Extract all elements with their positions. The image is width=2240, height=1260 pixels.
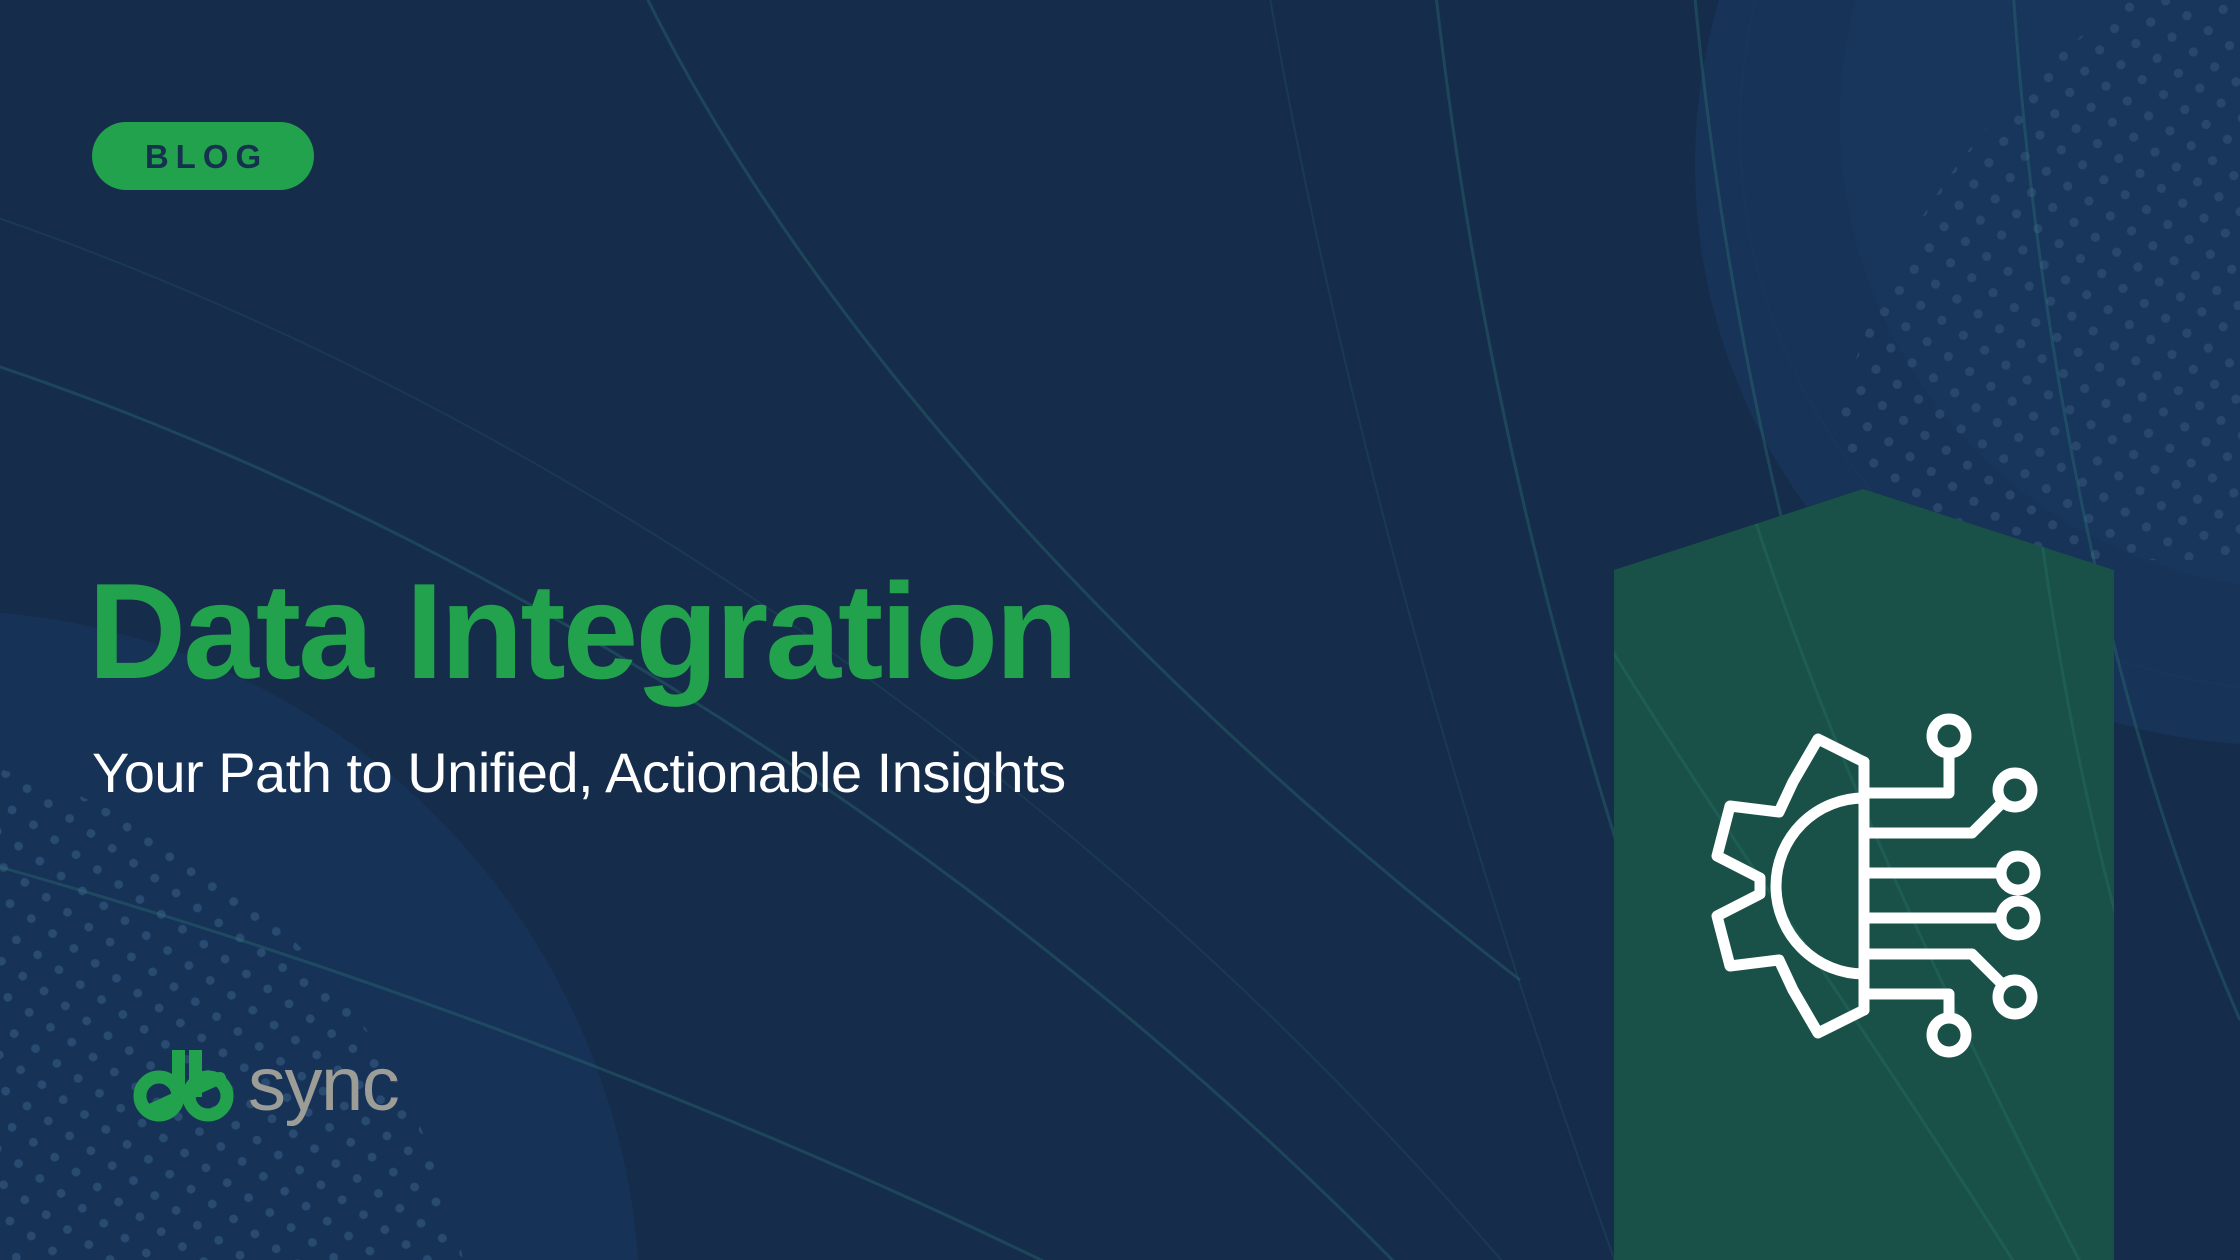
gear-circuit-icon <box>1696 706 2066 1064</box>
page-subtitle: Your Path to Unified, Actionable Insight… <box>92 742 1066 804</box>
circuit-trace-6 <box>1864 994 1949 1018</box>
page-title: Data Integration <box>88 563 1075 699</box>
circuit-node-3 <box>2001 856 2035 890</box>
circuit-node-1 <box>1932 719 1966 753</box>
dbsync-infinity-mark <box>128 1044 246 1127</box>
circuit-node-4 <box>2001 901 2035 935</box>
circuit-node-2 <box>1998 773 2032 807</box>
circuit-trace-2 <box>1864 804 2001 833</box>
blog-hero-banner: BLOG Data Integration Your Path to Unifi… <box>0 0 2240 1260</box>
dbsync-logo[interactable]: sync <box>128 1042 398 1128</box>
circuit-node-5 <box>1998 980 2032 1014</box>
blog-badge-label: BLOG <box>138 140 268 173</box>
circuit-trace-5 <box>1864 954 2001 983</box>
blog-badge[interactable]: BLOG <box>92 122 314 190</box>
circuit-trace-1 <box>1864 753 1949 793</box>
gear-outer-teeth <box>1717 739 1864 1033</box>
decor-halftone-bottom-left <box>0 610 640 1260</box>
gear-inner-circle <box>1776 798 1864 974</box>
dbsync-wordmark: sync <box>248 1047 398 1123</box>
decor-circle-bottom-left <box>0 610 640 1260</box>
circuit-node-6 <box>1932 1018 1966 1052</box>
